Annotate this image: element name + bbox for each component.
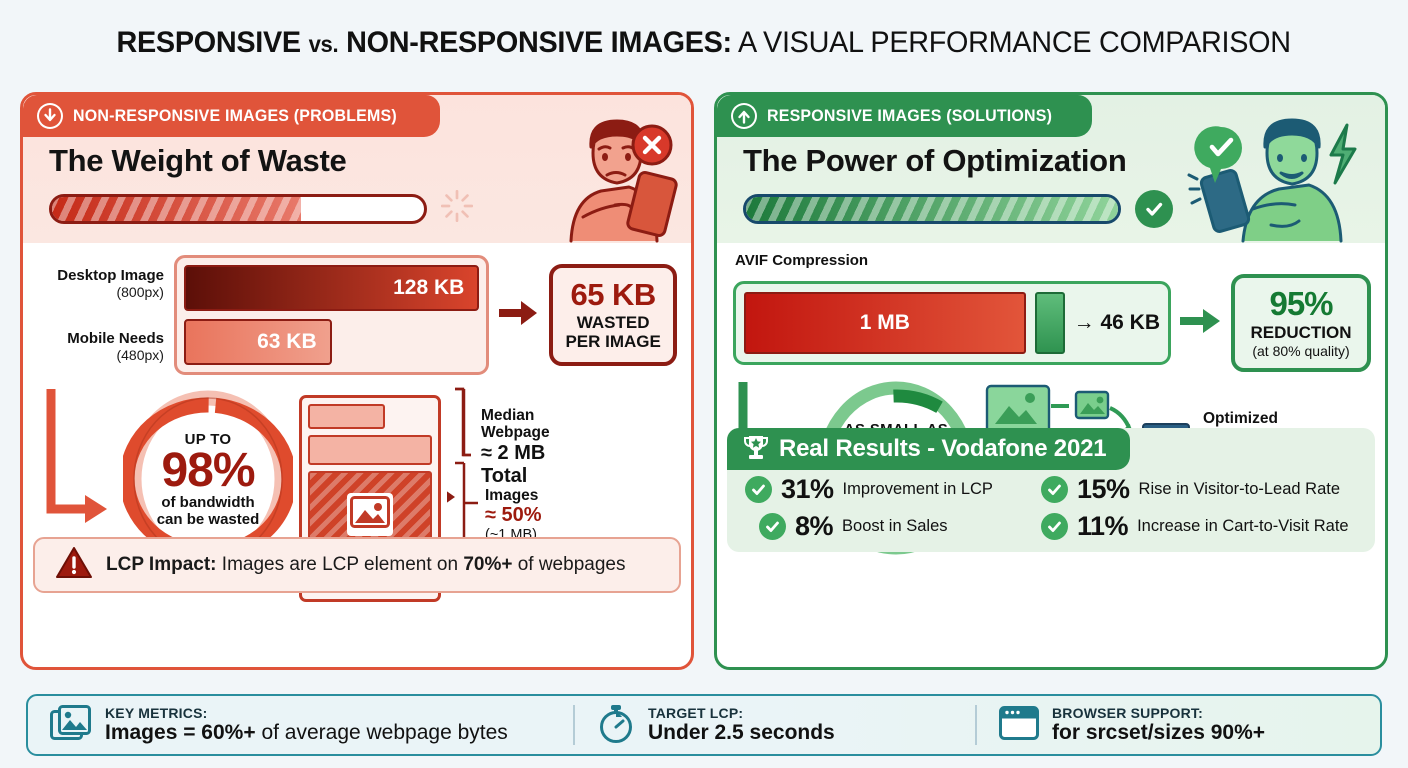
page-header: RESPONSIVE vs. NON-RESPONSIVE IMAGES: A … — [0, 0, 1408, 78]
bar-mobile: 63 KB — [184, 319, 332, 365]
size-comparison-chart: Desktop Image (800px) Mobile Needs (480p… — [23, 243, 691, 375]
check-circle-icon — [1135, 190, 1173, 228]
target-lcp-text: Under 2.5 seconds — [648, 721, 835, 745]
responsive-panel: RESPONSIVE IMAGES (SOLUTIONS) The Power … — [714, 92, 1388, 670]
non-responsive-panel: NON-RESPONSIVE IMAGES (PROBLEMS) The Wei… — [20, 92, 694, 670]
up-arrow-circle-icon — [731, 103, 757, 129]
result-pct: 15% — [1077, 474, 1130, 505]
bars-container: 128 KB 63 KB — [174, 255, 489, 375]
key-metrics-cell: KEY METRICS: Images = 60%+ of average we… — [28, 704, 573, 747]
warning-triangle-icon — [55, 546, 93, 585]
key-facts-bar: KEY METRICS: Images = 60%+ of average we… — [26, 694, 1382, 756]
donut-sub2: can be wasted — [157, 511, 260, 528]
lcp-impact-mid: Images are LCP element on — [217, 554, 464, 575]
images-stack-icon — [50, 704, 92, 747]
browser-support-text: for srcset/sizes 90%+ — [1052, 721, 1265, 745]
lcp-impact-text: LCP Impact: Images are LCP element on 70… — [106, 554, 625, 576]
images-share-title: Images — [485, 487, 542, 504]
lcp-impact-bold2: 70%+ — [463, 554, 512, 575]
delivery-title-1: Optimized — [1203, 410, 1335, 428]
stopwatch-icon — [597, 703, 635, 748]
result-pct: 8% — [795, 511, 833, 542]
median-webpage-note: Median Webpage ≈ 2 MB Total — [481, 407, 565, 488]
check-icon — [1041, 513, 1068, 540]
lightning-bolt-icon — [1331, 125, 1355, 183]
real-results-label: Real Results - Vodafone 2021 — [779, 435, 1106, 463]
left-panel-tab: NON-RESPONSIVE IMAGES (PROBLEMS) — [23, 95, 440, 137]
reduction-line2: (at 80% quality) — [1237, 343, 1365, 359]
browser-support-title: BROWSER SUPPORT: — [1052, 705, 1265, 721]
check-icon — [1041, 476, 1068, 503]
result-label: Rise in Visitor-to-Lead Rate — [1139, 480, 1340, 499]
result-item: 11% Increase in Cart-to-Visit Rate — [1041, 511, 1375, 542]
median-webpage-title: Median Webpage — [481, 407, 565, 442]
down-arrow-circle-icon — [37, 103, 63, 129]
target-lcp-bold: Under 2.5 seconds — [648, 721, 835, 744]
title-part-2: NON-RESPONSIVE IMAGES: — [347, 26, 733, 59]
median-webpage-value: ≈ 2 MB Total — [481, 442, 565, 488]
reduction-box: 95% REDUCTION (at 80% quality) — [1231, 274, 1371, 372]
elbow-arrow-icon — [45, 383, 117, 544]
bar-row1-sub: (800px) — [39, 284, 164, 300]
left-body: Desktop Image (800px) Mobile Needs (480p… — [23, 243, 691, 602]
target-lcp-title: TARGET LCP: — [648, 705, 835, 721]
real-results-tab: Real Results - Vodafone 2021 — [727, 428, 1130, 470]
wasted-kb-line2: PER IMAGE — [557, 332, 669, 351]
browser-support-cell: BROWSER SUPPORT: for srcset/sizes 90%+ — [977, 705, 1380, 746]
title-vs: vs. — [309, 31, 339, 57]
lcp-impact-bold: LCP Impact: — [106, 554, 217, 575]
bar-desktop: 128 KB — [184, 265, 479, 311]
wasted-kb-box: 65 KB WASTED PER IMAGE — [549, 264, 677, 366]
wasted-kb-line1: WASTED — [557, 313, 669, 332]
result-item: 15% Rise in Visitor-to-Lead Rate — [1041, 474, 1375, 505]
result-item: 8% Boost in Sales — [745, 511, 1041, 542]
panels-container: NON-RESPONSIVE IMAGES (PROBLEMS) The Wei… — [0, 82, 1408, 674]
result-item: 31% Improvement in LCP — [745, 474, 1041, 505]
donut-value: 98% — [161, 448, 254, 494]
key-metrics-bold: Images = 60%+ — [105, 721, 256, 744]
avif-compressed-value: → 46 KB — [1074, 311, 1160, 335]
bar-row2-sub: (480px) — [39, 347, 164, 363]
result-label: Boost in Sales — [842, 517, 947, 536]
avif-section-label: AVIF Compression — [717, 243, 1385, 274]
check-icon — [759, 513, 786, 540]
donut-sub1: of bandwidth — [161, 494, 254, 511]
key-metrics-text: Images = 60%+ of average webpage bytes — [105, 721, 508, 745]
happy-user-phone-illustration — [1175, 113, 1375, 248]
key-metrics-rest: of average webpage bytes — [256, 721, 508, 744]
image-placeholder-icon — [347, 493, 393, 536]
left-panel-tab-label: NON-RESPONSIVE IMAGES (PROBLEMS) — [73, 106, 397, 126]
mock-text-block — [308, 435, 432, 465]
result-pct: 31% — [781, 474, 834, 505]
bar-row2-label: Mobile Needs — [39, 330, 164, 347]
avif-compressed-bar — [1035, 292, 1065, 354]
right-body: AVIF Compression 1 MB → 46 KB 95% REDUCT… — [717, 243, 1385, 561]
images-share-note: Images ≈ 50% (~1 MB) — [485, 487, 542, 543]
wasted-kb-value: 65 KB — [557, 277, 669, 313]
lcp-impact-tail: of webpages — [512, 554, 625, 575]
avif-comparison: 1 MB → 46 KB 95% REDUCTION (at 80% quali… — [717, 274, 1385, 372]
right-panel-tab-label: RESPONSIVE IMAGES (SOLUTIONS) — [767, 106, 1052, 126]
reduction-value: 95% — [1237, 285, 1365, 323]
images-share-value: ≈ 50% — [485, 504, 542, 527]
key-metrics-title: KEY METRICS: — [105, 705, 508, 721]
reduction-line1: REDUCTION — [1237, 323, 1365, 343]
optimized-progress-bar — [743, 194, 1121, 224]
right-arrow-icon — [499, 298, 539, 333]
mockup-annotations: Median Webpage ≈ 2 MB Total Images ≈ 50%… — [447, 383, 565, 397]
progress-fill-complete — [746, 197, 1118, 221]
bar-chart-labels: Desktop Image (800px) Mobile Needs (480p… — [39, 267, 164, 363]
browser-window-icon — [999, 705, 1039, 746]
right-panel-tab: RESPONSIVE IMAGES (SOLUTIONS) — [717, 95, 1092, 137]
mock-header-block — [308, 404, 385, 429]
bar-row1-label: Desktop Image — [39, 267, 164, 284]
result-pct: 11% — [1077, 511, 1128, 542]
avif-original-bar: 1 MB — [744, 292, 1026, 354]
results-grid: 31% Improvement in LCP 15% Rise in Visit… — [727, 470, 1375, 542]
target-lcp-cell: TARGET LCP: Under 2.5 seconds — [575, 703, 975, 748]
right-arrow-green-icon — [1180, 306, 1222, 341]
loading-progress-bar — [49, 194, 427, 224]
progress-fill — [52, 197, 301, 221]
check-icon — [745, 476, 772, 503]
x-mark-icon — [633, 126, 671, 164]
title-part-1: RESPONSIVE — [117, 26, 301, 59]
title-part-3: A VISUAL PERFORMANCE COMPARISON — [738, 26, 1291, 59]
trophy-icon — [743, 433, 769, 466]
page-title: RESPONSIVE vs. NON-RESPONSIVE IMAGES: A … — [117, 26, 1291, 60]
real-results-section: Real Results - Vodafone 2021 31% Improve… — [727, 428, 1375, 552]
loading-spinner-ghost-icon — [441, 190, 473, 227]
result-label: Increase in Cart-to-Visit Rate — [1137, 517, 1349, 536]
avif-bar-container: 1 MB → 46 KB — [733, 281, 1171, 365]
result-label: Improvement in LCP — [843, 480, 993, 499]
browser-support-bold: for srcset/sizes 90%+ — [1052, 721, 1265, 744]
lcp-impact-strip: LCP Impact: Images are LCP element on 70… — [33, 537, 681, 593]
frustrated-user-phone-illustration — [541, 113, 681, 248]
